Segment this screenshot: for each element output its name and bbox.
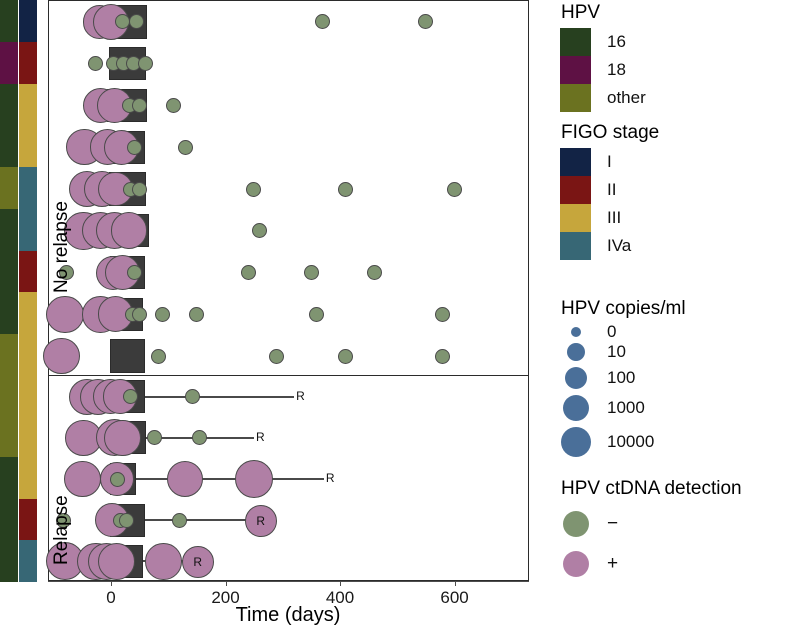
data-point[interactable] [241, 265, 256, 280]
legend-detection-title: HPV ctDNA detection [561, 478, 742, 500]
legend-detection-item-positive[interactable]: + [560, 544, 742, 584]
legend-figo-item-i[interactable]: I [560, 148, 659, 176]
legend-hpv-item-18[interactable]: 18 [560, 56, 646, 84]
data-point[interactable] [185, 389, 200, 404]
legend-copies-title: HPV copies/ml [561, 298, 686, 320]
figo-annotation-segment [19, 540, 37, 582]
legend-copies-item[interactable]: 10000 [560, 424, 686, 460]
legend-detection-item-negative[interactable]: − [560, 504, 742, 544]
strip-label-no-relapse: No relapse [51, 93, 73, 293]
data-point[interactable] [418, 14, 433, 29]
data-point[interactable] [189, 307, 204, 322]
legend-figo-title: FIGO stage [561, 122, 659, 144]
data-point[interactable] [435, 307, 450, 322]
legend-copies-label: 10000 [607, 432, 654, 452]
hpv-annotation-segment [0, 84, 18, 126]
figo-annotation-segment [19, 167, 37, 209]
data-point[interactable] [269, 349, 284, 364]
hpv-annotation-segment [0, 540, 18, 582]
legend-copies-dot [561, 427, 591, 457]
x-axis-tick [340, 581, 341, 586]
figo-annotation-segment [19, 125, 37, 167]
legend-dot-positive [563, 551, 589, 577]
legend-swatch-figo-ii [560, 176, 591, 204]
legend-copies-dot [563, 395, 589, 421]
x-axis-tick [111, 581, 112, 586]
hpv-annotation-segment [0, 42, 18, 84]
legend-swatch-hpv-16 [560, 28, 591, 56]
panel-no-relapse-content [49, 1, 528, 375]
figo-annotation-segment [19, 251, 37, 293]
hpv-annotation-segment [0, 457, 18, 499]
relapse-marker[interactable]: R [296, 390, 305, 402]
legend-figo: FIGO stage I II III IVa [560, 122, 659, 260]
legend-hpv-item-16[interactable]: 16 [560, 28, 646, 56]
relapse-timeline [136, 478, 324, 480]
legend-hpv: HPV 16 18 other [560, 2, 646, 112]
data-point[interactable] [155, 307, 170, 322]
legend-copies-dot [567, 343, 585, 361]
data-point[interactable] [129, 14, 144, 29]
x-axis-tick [226, 581, 227, 586]
relapse-timeline [145, 396, 294, 398]
treatment-block [110, 339, 146, 372]
data-point[interactable] [145, 543, 182, 580]
legend-swatch-figo-iii [560, 204, 591, 232]
data-point[interactable] [178, 140, 193, 155]
legend-copies-label: 10 [607, 342, 626, 362]
legend-copies-dot-holder [560, 327, 591, 337]
relapse-marker[interactable]: R [182, 546, 214, 578]
legend-figo-item-iva[interactable]: IVa [560, 232, 659, 260]
legend-swatch-hpv-18 [560, 56, 591, 84]
data-point[interactable] [132, 307, 147, 322]
hpv-annotation-segment [0, 125, 18, 167]
figo-annotation-segment [19, 375, 37, 417]
data-point[interactable] [88, 56, 103, 71]
figo-annotation-segment [19, 292, 37, 334]
hpv-annotation-segment [0, 375, 18, 417]
data-point[interactable] [192, 430, 207, 445]
data-point[interactable] [367, 265, 382, 280]
data-point[interactable] [304, 265, 319, 280]
legend-copies-rows: 010100100010000 [560, 324, 686, 460]
hpv-annotation-segment [0, 209, 18, 251]
hpv-annotation-segment [0, 499, 18, 541]
legend-detection-dot-positive-holder [560, 551, 591, 577]
legend-copies-dot [571, 327, 581, 337]
data-point[interactable] [43, 338, 80, 375]
x-axis-title: Time (days) [236, 604, 341, 627]
figo-annotation-segment [19, 416, 37, 458]
data-point[interactable] [338, 349, 353, 364]
data-point[interactable] [138, 56, 153, 71]
data-point[interactable] [132, 98, 147, 113]
legend-copies-item[interactable]: 10 [560, 340, 686, 364]
legend-figo-item-ii[interactable]: II [560, 176, 659, 204]
figo-annotation-segment [19, 334, 37, 376]
figo-annotation-segment [19, 0, 37, 42]
data-point[interactable] [166, 98, 181, 113]
hpv-annotation-segment [0, 251, 18, 293]
legend-label-figo-ii: II [607, 180, 616, 200]
figo-annotation-segment [19, 42, 37, 84]
legend-copies-item[interactable]: 100 [560, 364, 686, 392]
legend-swatch-figo-iva [560, 232, 591, 260]
legend-label-hpv-other: other [607, 88, 646, 108]
hpv-annotation-segment [0, 167, 18, 209]
legend-label-figo-iii: III [607, 208, 621, 228]
hpv-annotation-segment [0, 292, 18, 334]
data-point[interactable] [338, 182, 353, 197]
legend-copies-label: 100 [607, 368, 635, 388]
data-point[interactable] [235, 460, 273, 498]
data-point[interactable] [252, 223, 267, 238]
data-point[interactable] [104, 420, 141, 457]
legend-copies-item[interactable]: 0 [560, 324, 686, 340]
legend-label-detection-positive: + [607, 553, 618, 575]
strip-label-relapse: Relapse [51, 425, 73, 565]
legend-detection-dot-negative-holder [560, 511, 591, 537]
data-point[interactable] [123, 389, 138, 404]
data-point[interactable] [151, 349, 166, 364]
relapse-marker[interactable]: R [245, 505, 277, 537]
legend-label-figo-i: I [607, 152, 612, 172]
figo-annotation-segment [19, 84, 37, 126]
legend-copies-dot-holder [560, 367, 591, 389]
panel-relapse-content: RRRRR [49, 376, 528, 580]
data-point[interactable] [132, 182, 147, 197]
x-axis-line [48, 581, 529, 582]
legend-ctdna-detection: HPV ctDNA detection − + [560, 478, 742, 584]
panel-no-relapse [48, 0, 529, 376]
x-axis-tick [455, 581, 456, 586]
legend-swatch-hpv-other [560, 84, 591, 112]
legend-swatch-figo-i [560, 148, 591, 176]
data-point[interactable] [447, 182, 462, 197]
data-point[interactable] [246, 182, 261, 197]
panel-relapse: RRRRR [48, 375, 529, 581]
legend-copies-dot-holder [560, 395, 591, 421]
data-point[interactable] [309, 307, 324, 322]
legend-copies-dot [565, 367, 587, 389]
relapse-marker[interactable]: R [256, 431, 265, 443]
data-point[interactable] [172, 513, 187, 528]
x-axis-tick-label: 0 [106, 588, 115, 608]
legend-hpv-title: HPV [561, 2, 646, 24]
hpv-annotation-bar [0, 0, 18, 580]
x-axis-tick-label: 600 [440, 588, 468, 608]
legend-copies-label: 1000 [607, 398, 645, 418]
legend-label-detection-negative: − [607, 513, 618, 535]
plot-area: RRRRR [48, 0, 529, 581]
data-point[interactable] [110, 472, 125, 487]
legend-copies-dot-holder [560, 427, 591, 457]
swimmer-plot-figure: RRRRR No relapse Relapse 0200400600 Time… [0, 0, 787, 630]
legend-label-figo-iva: IVa [607, 236, 631, 256]
legend-column: HPV 16 18 other FIGO stage I II [560, 0, 787, 630]
data-point[interactable] [46, 296, 83, 333]
data-point[interactable] [167, 461, 203, 497]
legend-copies-item[interactable]: 1000 [560, 392, 686, 424]
legend-copies-dot-holder [560, 343, 591, 361]
data-point[interactable] [435, 349, 450, 364]
legend-label-hpv-16: 16 [607, 32, 626, 52]
relapse-marker[interactable]: R [326, 472, 335, 484]
legend-dot-negative [563, 511, 589, 537]
data-point[interactable] [315, 14, 330, 29]
data-point[interactable] [147, 430, 162, 445]
data-point[interactable] [98, 543, 135, 580]
legend-label-hpv-18: 18 [607, 60, 626, 80]
legend-figo-item-iii[interactable]: III [560, 204, 659, 232]
relapse-timeline [145, 519, 260, 521]
figo-annotation-bar [19, 0, 37, 580]
legend-hpv-item-other[interactable]: other [560, 84, 646, 112]
legend-hpv-copies: HPV copies/ml 010100100010000 [560, 298, 686, 460]
figo-annotation-segment [19, 457, 37, 499]
figo-annotation-segment [19, 499, 37, 541]
legend-copies-label: 0 [607, 322, 616, 342]
hpv-annotation-segment [0, 0, 18, 42]
data-point[interactable] [119, 513, 134, 528]
hpv-annotation-segment [0, 416, 18, 458]
figo-annotation-segment [19, 209, 37, 251]
hpv-annotation-segment [0, 334, 18, 376]
